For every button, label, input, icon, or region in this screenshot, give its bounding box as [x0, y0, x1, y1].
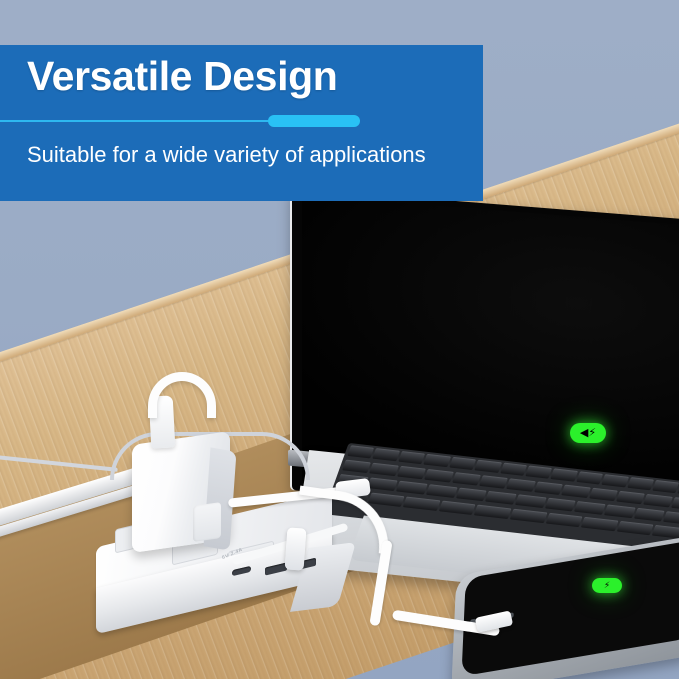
banner-subtitle: Suitable for a wide variety of applicati… — [27, 142, 426, 168]
charging-glyph: ◀⚡ — [580, 428, 596, 439]
battery-glyph: ⚡ — [604, 581, 610, 590]
phone-battery-charging-badge-icon: ⚡ — [592, 578, 622, 593]
charger-brick-notch — [193, 502, 221, 542]
banner-divider-line — [0, 120, 300, 122]
banner-accent-bar — [268, 115, 360, 127]
product-lifestyle-image: ◀⚡ ⚡ 5V 2.4A Versatile Design S — [0, 0, 679, 679]
banner-divider — [0, 115, 483, 129]
banner-title: Versatile Design — [27, 53, 337, 100]
marketing-banner: Versatile Design Suitable for a wide var… — [0, 45, 483, 201]
laptop-charging-badge-icon: ◀⚡ — [570, 423, 606, 443]
